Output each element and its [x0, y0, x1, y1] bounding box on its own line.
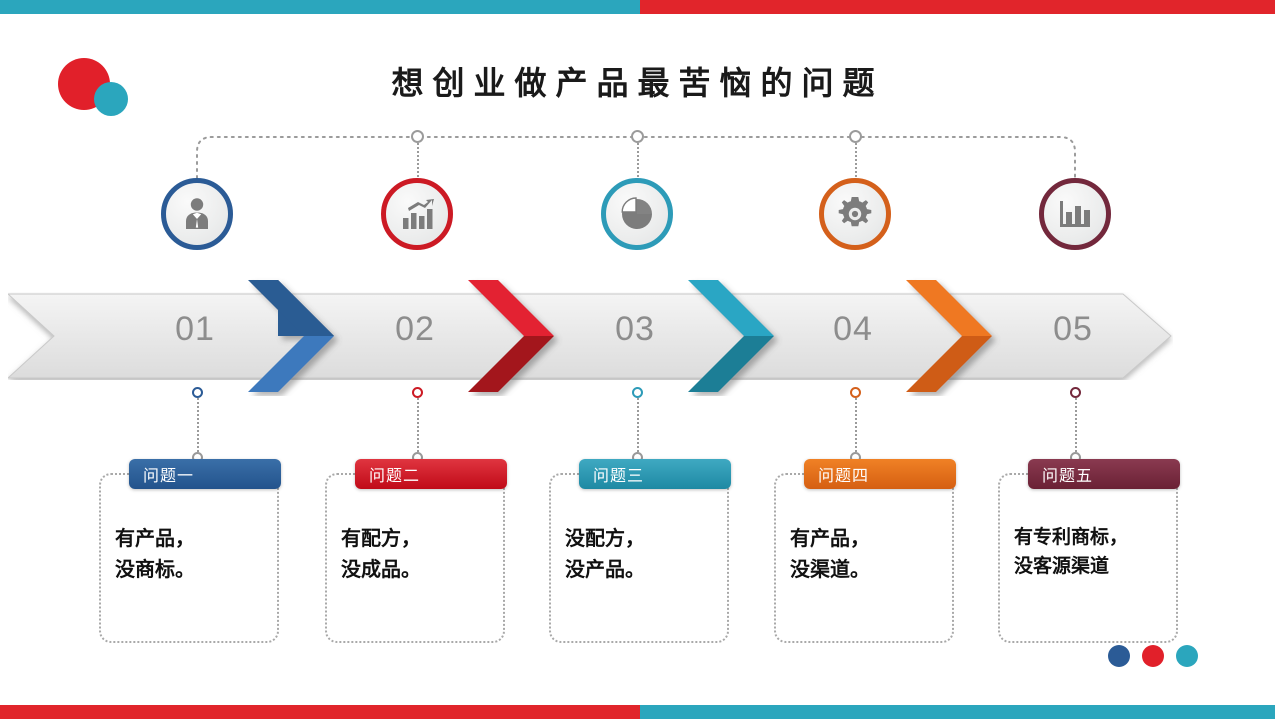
step-connector-line-03: [637, 398, 639, 452]
step-pin-colored-04: [850, 387, 861, 398]
step-icon-circle-04[interactable]: [819, 178, 891, 250]
top-bar-left-segment: [0, 0, 640, 14]
step-icon-circle-02[interactable]: [381, 178, 453, 250]
step-number-04: 04: [798, 310, 908, 349]
step-number-03: 03: [580, 310, 690, 349]
deco-dot-blue: [1108, 645, 1130, 667]
problem-card-03[interactable]: 问题三 没配方， 没产品。: [549, 473, 729, 643]
problem-card-02[interactable]: 问题二 有配方， 没成品。: [325, 473, 505, 643]
pie-chart-icon: [618, 195, 656, 233]
problem-card-body-03: 没配方， 没产品。: [565, 523, 717, 585]
chevron-separator-2: [468, 276, 568, 396]
decoration-dots: [1108, 645, 1198, 667]
step-number-01: 01: [140, 310, 250, 349]
problem-card-line-2: 没渠道。: [790, 554, 942, 585]
rail-node-2: [631, 130, 644, 143]
step-number-02: 02: [360, 310, 470, 349]
problem-card-04[interactable]: 问题四 有产品， 没渠道。: [774, 473, 954, 643]
step-icon-circle-03[interactable]: [601, 178, 673, 250]
problem-card-line-2: 没产品。: [565, 554, 717, 585]
problem-card-line-1: 没配方，: [565, 523, 717, 554]
step-pin-colored-02: [412, 387, 423, 398]
step-number-05: 05: [1018, 310, 1128, 349]
chevron-separator-1: [248, 276, 348, 396]
problem-card-tag-01: 问题一: [129, 459, 281, 489]
businessman-icon: [178, 195, 216, 233]
problem-card-tag-05: 问题五: [1028, 459, 1180, 489]
step-pin-colored-03: [632, 387, 643, 398]
chevron-separator-4: [906, 276, 1006, 396]
problem-card-tag-02: 问题二: [355, 459, 507, 489]
problem-card-01[interactable]: 问题一 有产品， 没商标。: [99, 473, 279, 643]
problem-card-body-05: 有专利商标， 没客源渠道: [1014, 523, 1166, 582]
problem-card-tag-04: 问题四: [804, 459, 956, 489]
problem-card-tag-03: 问题三: [579, 459, 731, 489]
deco-dot-red: [1142, 645, 1164, 667]
problem-card-line-2: 没客源渠道: [1014, 552, 1166, 581]
page-title: 想创业做产品最苦恼的问题: [0, 58, 1275, 104]
problem-card-line-1: 有产品，: [115, 523, 267, 554]
problem-card-line-1: 有专利商标，: [1014, 523, 1166, 552]
problem-card-body-02: 有配方， 没成品。: [341, 523, 493, 585]
rail-node-3: [849, 130, 862, 143]
problem-card-body-04: 有产品， 没渠道。: [790, 523, 942, 585]
step-icon-circle-05[interactable]: [1039, 178, 1111, 250]
step-connector-line-04: [855, 398, 857, 452]
top-accent-bar: [0, 0, 1275, 14]
step-pin-colored-05: [1070, 387, 1081, 398]
bottom-bar-right-segment: [640, 705, 1275, 719]
gear-icon: [836, 195, 874, 233]
chevron-separator-3: [688, 276, 788, 396]
dropper-line-2: [417, 143, 419, 177]
rail-node-1: [411, 130, 424, 143]
bar-chart-arrow-icon: [399, 197, 435, 231]
step-connector-line-05: [1075, 398, 1077, 452]
slide-canvas: 想创业做产品最苦恼的问题: [0, 0, 1275, 719]
bottom-accent-bar: [0, 705, 1275, 719]
problem-card-line-2: 没商标。: [115, 554, 267, 585]
bar-chart-axis-icon: [1057, 197, 1093, 231]
problem-card-line-1: 有产品，: [790, 523, 942, 554]
problem-card-line-1: 有配方，: [341, 523, 493, 554]
problem-card-05[interactable]: 问题五 有专利商标， 没客源渠道: [998, 473, 1178, 643]
problem-card-body-01: 有产品， 没商标。: [115, 523, 267, 585]
dropper-line-4: [855, 143, 857, 177]
problem-card-line-2: 没成品。: [341, 554, 493, 585]
step-connector-line-01: [197, 398, 199, 452]
step-pin-colored-01: [192, 387, 203, 398]
bottom-bar-left-segment: [0, 705, 640, 719]
step-connector-line-02: [417, 398, 419, 452]
top-bar-right-segment: [640, 0, 1275, 14]
dropper-line-3: [637, 143, 639, 177]
deco-dot-teal: [1176, 645, 1198, 667]
step-icon-circle-01[interactable]: [161, 178, 233, 250]
